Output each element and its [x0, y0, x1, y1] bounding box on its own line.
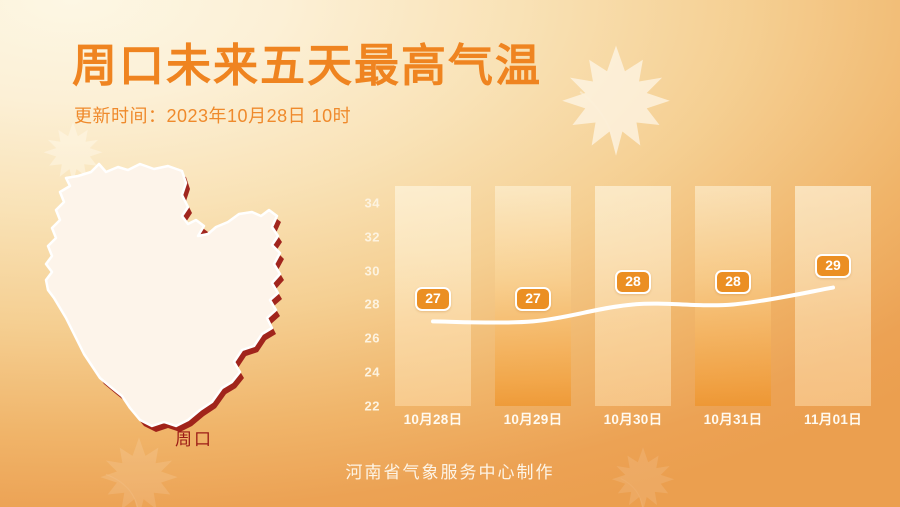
footer-credit: 河南省气象服务中心制作 — [0, 458, 900, 483]
y-axis-tick: 34 — [365, 195, 380, 210]
temperature-value-badge: 29 — [815, 254, 851, 278]
page-title: 周口未来五天最高气温 — [72, 38, 542, 94]
x-axis-tick: 11月01日 — [783, 408, 883, 428]
x-axis-tick: 10月28日 — [383, 408, 483, 428]
temperature-value-badge: 28 — [715, 270, 751, 294]
zhoukou-map: 周口 — [36, 150, 336, 450]
temperature-value-badge: 27 — [515, 287, 551, 311]
y-axis-tick: 32 — [365, 229, 380, 244]
y-axis-tick: 24 — [365, 365, 380, 380]
map-outline-icon — [36, 150, 336, 450]
x-axis-tick: 10月30日 — [583, 408, 683, 428]
x-axis-tick: 10月31日 — [683, 408, 783, 428]
poster-header: 周口未来五天最高气温 更新时间：2023年10月28日 10时 — [72, 38, 542, 128]
y-axis-tick: 28 — [365, 297, 380, 312]
temperature-line-series — [383, 186, 883, 406]
temperature-value-badge: 27 — [415, 287, 451, 311]
y-axis-tick: 26 — [365, 331, 380, 346]
chart-plot-area: 2727282829 — [383, 186, 883, 406]
update-time-text: 更新时间：2023年10月28日 10时 — [74, 104, 542, 128]
temperature-chart: 34323028262422 2727282829 10月28日10月29日10… — [340, 186, 885, 426]
x-axis-tick: 10月29日 — [483, 408, 583, 428]
x-axis-labels: 10月28日10月29日10月30日10月31日11月01日 — [383, 408, 883, 432]
y-axis-tick: 30 — [365, 263, 380, 278]
y-axis-labels: 34323028262422 — [340, 186, 380, 406]
temperature-value-badge: 28 — [615, 270, 651, 294]
maple-leaf-icon — [552, 38, 680, 166]
y-axis-tick: 22 — [365, 399, 380, 414]
weather-forecast-poster: 周口未来五天最高气温 更新时间：2023年10月28日 10时 周口 34323… — [0, 0, 900, 507]
map-city-label: 周口 — [175, 425, 213, 450]
